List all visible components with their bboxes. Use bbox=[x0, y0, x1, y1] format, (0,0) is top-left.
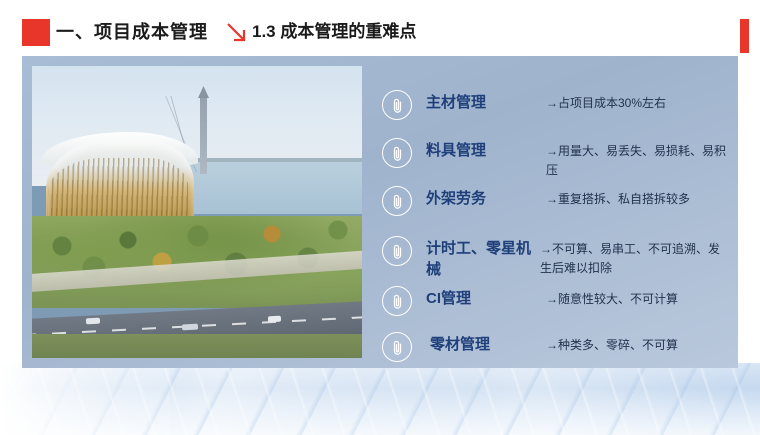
page-title: 一、项目成本管理 bbox=[56, 16, 208, 48]
list-item-desc: →重复搭拆、私自搭拆较多 bbox=[546, 190, 728, 209]
content-panel: 主材管理 →占项目成本30%左右 料具管理 →用量大、易丢失、易损耗、易积压 bbox=[22, 56, 738, 368]
header-red-block bbox=[22, 19, 50, 46]
slide-header: 一、项目成本管理 1.3 成本管理的重难点 bbox=[0, 16, 760, 52]
list-item-label: 料具管理 bbox=[426, 140, 544, 161]
paperclip-icon bbox=[382, 236, 412, 266]
paperclip-icon bbox=[382, 286, 412, 316]
down-right-arrow-icon bbox=[225, 21, 251, 45]
slide: 一、项目成本管理 1.3 成本管理的重难点 bbox=[0, 0, 760, 435]
list-item-desc: →种类多、零碎、不可算 bbox=[546, 336, 728, 355]
list-item-label: CI管理 bbox=[426, 288, 544, 309]
decorative-band-fade bbox=[0, 363, 170, 435]
list-item-desc: →随意性较大、不可计算 bbox=[546, 290, 728, 309]
list-item-desc: →占项目成本30%左右 bbox=[546, 94, 728, 113]
paperclip-icon bbox=[382, 186, 412, 216]
key-points-list: 主材管理 →占项目成本30%左右 料具管理 →用量大、易丢失、易损耗、易积压 bbox=[374, 70, 730, 358]
paperclip-icon bbox=[382, 138, 412, 168]
list-item-label: 外架劳务 bbox=[426, 188, 544, 209]
list-item-desc: →用量大、易丢失、易损耗、易积压 bbox=[546, 142, 728, 180]
list-item-label: 零材管理 bbox=[430, 334, 548, 355]
page-subtitle: 1.3 成本管理的重难点 bbox=[252, 16, 416, 48]
list-item-label: 计时工、零星机械 bbox=[426, 238, 544, 280]
photo-haze-overlay bbox=[32, 66, 362, 358]
list-item-label: 主材管理 bbox=[426, 92, 544, 113]
project-rendering-image bbox=[32, 66, 362, 358]
paperclip-icon bbox=[382, 332, 412, 362]
list-item-desc: →不可算、易串工、不可追溯、发生后难以扣除 bbox=[540, 240, 730, 278]
paperclip-icon bbox=[382, 90, 412, 120]
header-right-red-block bbox=[740, 19, 749, 53]
